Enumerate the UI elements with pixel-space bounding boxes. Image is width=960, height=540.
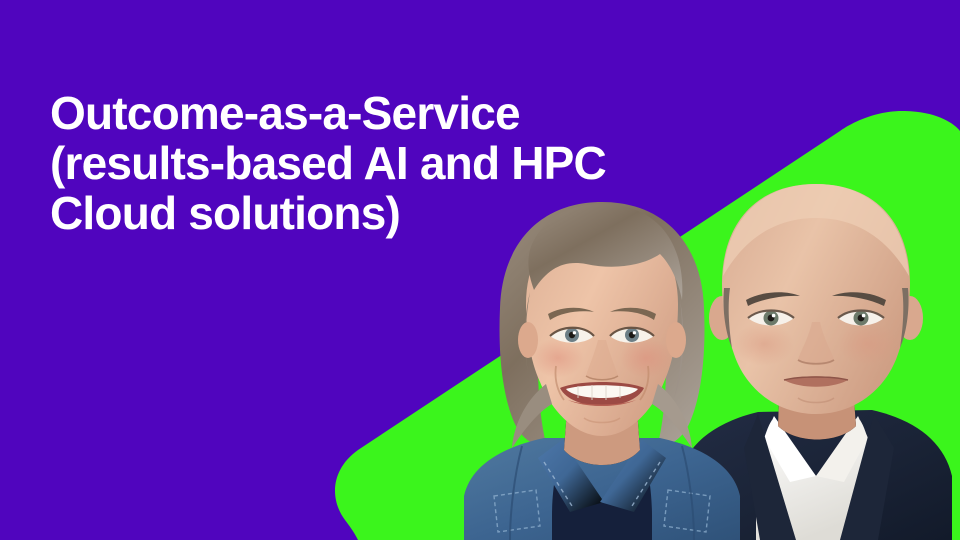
page-title: Outcome-as-a-Service (results-based AI a… (50, 88, 690, 238)
title-card: Outcome-as-a-Service (results-based AI a… (0, 0, 960, 540)
portrait-woman (452, 196, 752, 540)
title-line-1: Outcome-as-a-Service (50, 88, 690, 138)
title-line-2: (results-based AI and HPC (50, 138, 690, 188)
title-line-3: Cloud solutions) (50, 188, 690, 238)
